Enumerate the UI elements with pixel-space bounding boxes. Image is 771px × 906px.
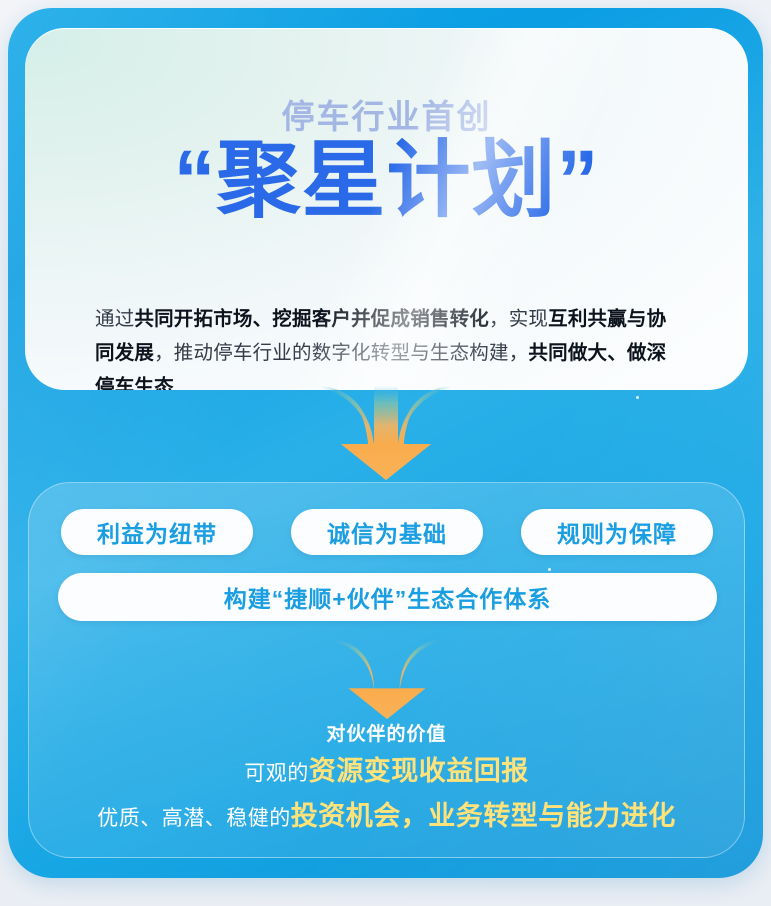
pill-benefit-bond[interactable]: 利益为纽带: [61, 509, 253, 555]
value-line-2-highlight: 资源变现收益回报: [309, 756, 529, 786]
hero-description: 通过共同开拓市场、挖掘客户并促成销售转化，实现互利共赢与协同发展，推动停车行业的…: [95, 302, 680, 391]
hero-card: 停车行业首创 “聚星计划” 通过共同开拓市场、挖掘客户并促成销售转化，实现互利共…: [25, 28, 748, 390]
principle-pill-row: 利益为纽带 诚信为基础 规则为保障: [61, 509, 713, 555]
desc-seg-3: ，实现: [489, 308, 548, 330]
desc-seg-1: 通过: [95, 308, 134, 330]
arrow-down-icon: [323, 639, 451, 719]
hero-kicker: 停车行业首创: [25, 90, 748, 138]
value-line-3: 优质、高潜、稳健的投资机会，业务转型与能力进化: [29, 794, 744, 840]
pill-ecosystem-partnership[interactable]: 构建“捷顺+伙伴”生态合作体系: [58, 573, 717, 621]
value-line-2: 可观的资源变现收益回报: [29, 749, 744, 795]
partner-value-block: 对伙伴的价值 可观的资源变现收益回报 优质、高潜、稳健的投资机会，业务转型与能力…: [29, 721, 744, 840]
ecosystem-panel: 利益为纽带 诚信为基础 规则为保障 构建“捷顺+伙伴”生态合作体系: [28, 482, 745, 858]
infographic-canvas: 停车行业首创 “聚星计划” 通过共同开拓市场、挖掘客户并促成销售转化，实现互利共…: [0, 0, 771, 906]
value-line-3-prefix: 优质、高潜、稳健的: [97, 807, 291, 830]
pill-integrity-foundation[interactable]: 诚信为基础: [291, 509, 483, 555]
value-line-3-highlight: 投资机会，业务转型与能力进化: [291, 801, 676, 831]
value-line-2-prefix: 可观的: [244, 762, 309, 785]
value-heading: 对伙伴的价值: [29, 721, 744, 749]
desc-seg-5: ，推动停车行业的数字化转型与生态构建，: [154, 342, 528, 364]
pill-rules-guarantee[interactable]: 规则为保障: [521, 509, 713, 555]
sparkle-dot: [636, 396, 639, 399]
page-title: “聚星计划”: [25, 136, 748, 224]
desc-seg-2: 共同开拓市场、挖掘客户并促成销售转化: [134, 308, 489, 330]
